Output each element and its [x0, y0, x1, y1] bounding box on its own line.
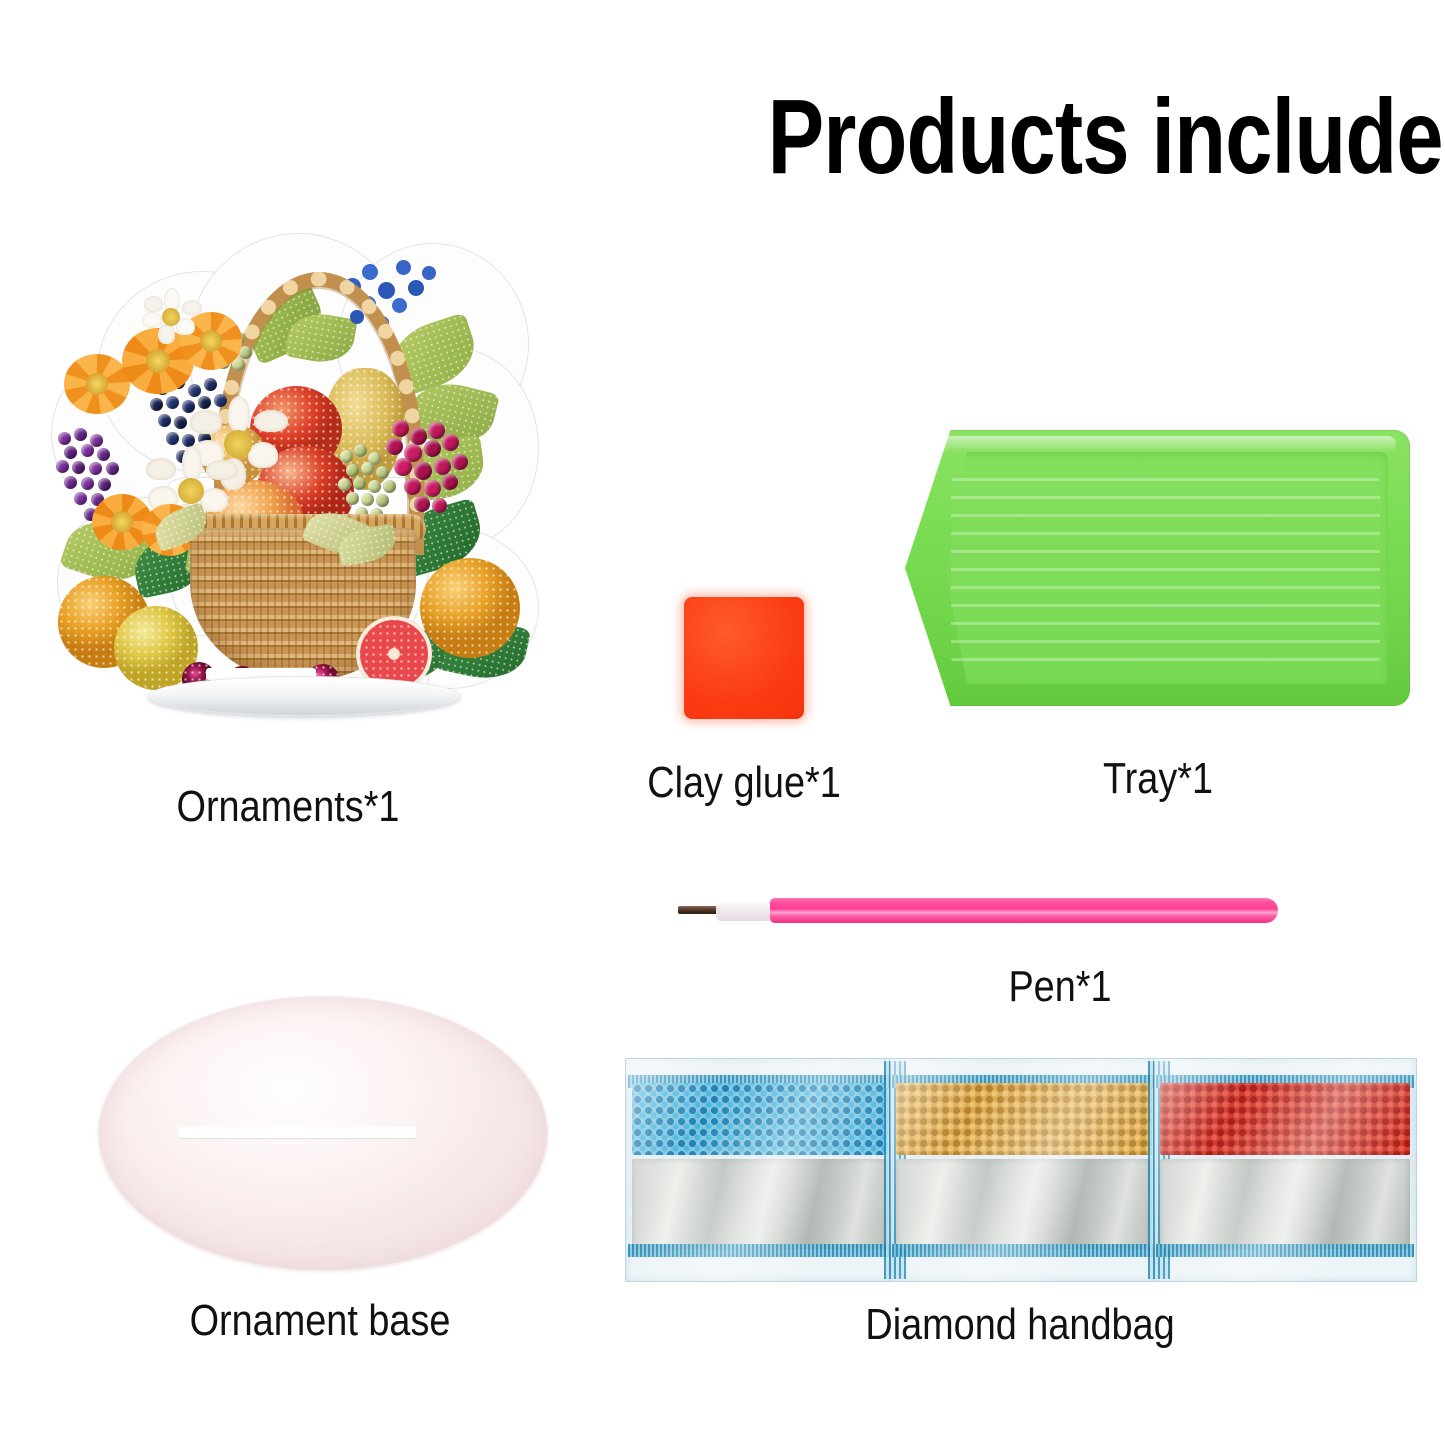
orange-fruit-icon	[420, 558, 520, 658]
foil-label	[896, 1159, 1152, 1249]
product-include-poster: Products include	[0, 0, 1445, 1445]
tray-highlight	[935, 436, 1396, 452]
ornament-stand	[148, 676, 460, 716]
pen-collar	[716, 900, 776, 921]
zipper-icon	[628, 1244, 892, 1257]
rhinestone-bag	[889, 1058, 1159, 1282]
zipper-icon	[892, 1244, 1156, 1257]
ornament-artwork	[38, 228, 538, 698]
rhinestones-gold	[896, 1083, 1152, 1155]
white-flower-icon	[142, 288, 202, 344]
ornament-base-figure	[98, 996, 548, 1271]
page-title: Products include	[768, 84, 1438, 190]
ornament-base-slot	[178, 1127, 416, 1138]
tray-grooves	[951, 478, 1380, 662]
zipper-icon	[1156, 1244, 1414, 1257]
ornament-label: Ornaments*1	[73, 782, 503, 832]
clay-glue-figure	[684, 597, 804, 719]
ornament-base-label: Ornament base	[96, 1296, 543, 1346]
clay-glue-label: Clay glue*1	[615, 758, 873, 808]
rhinestones-blue	[632, 1083, 888, 1155]
clay-glue-square-icon	[684, 597, 804, 719]
foil-label	[632, 1159, 888, 1249]
ornament-figure	[38, 228, 538, 748]
diamond-handbag-figure	[625, 1058, 1415, 1280]
tray-figure	[905, 430, 1410, 706]
rhinestone-bag	[1153, 1058, 1417, 1282]
rhinestones-red	[1160, 1083, 1410, 1155]
diamond-handbag-label: Diamond handbag	[796, 1300, 1243, 1350]
tray-label: Tray*1	[1029, 754, 1287, 804]
orange-flower-icon	[64, 354, 130, 414]
pen-tip-icon	[678, 906, 720, 914]
pen-label: Pen*1	[871, 962, 1249, 1012]
pen-barrel	[770, 898, 1278, 923]
pen-figure	[678, 892, 1278, 930]
rhinestone-bag	[625, 1058, 895, 1282]
foil-label	[1160, 1159, 1410, 1249]
